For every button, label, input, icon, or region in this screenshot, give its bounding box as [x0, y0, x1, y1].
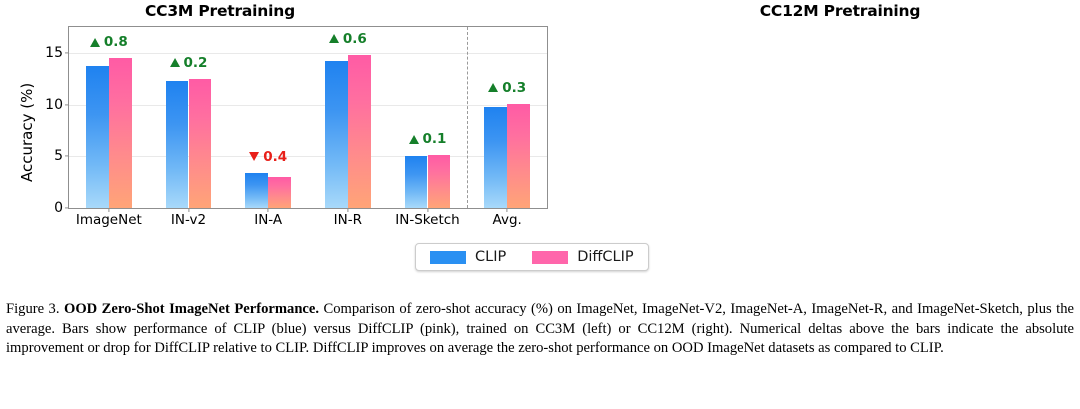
legend-label-diffclip: DiffCLIP [577, 249, 633, 265]
gridline [69, 156, 547, 157]
chart-title-cc3m: CC3M Pretraining [0, 2, 498, 20]
delta-annotation: 0.6 [329, 31, 367, 47]
triangle-up-icon [170, 58, 180, 67]
delta-annotation: 0.3 [488, 80, 526, 96]
y-tick-mark [65, 104, 69, 105]
bar-clip [484, 107, 507, 208]
x-tick-label-in-v2: IN-v2 [171, 212, 206, 228]
triangle-up-icon [90, 38, 100, 47]
y-tick-label: 15 [45, 45, 63, 61]
delta-value: 0.2 [184, 55, 208, 71]
chart-panel-cc3m: CC3M Pretraining Accuracy (%) 051015Imag… [0, 0, 556, 230]
chart-panel-cc12m: CC12M Pretraining 01020304050ImageNet2.0… [556, 0, 1080, 230]
delta-annotation: 0.2 [170, 55, 208, 71]
group-separator-line [467, 27, 468, 208]
legend-entry-diffclip: DiffCLIP [532, 249, 633, 265]
chart-legend: CLIP DiffCLIP [415, 243, 649, 271]
y-axis-label-cc3m: Accuracy (%) [18, 83, 36, 182]
delta-annotation: 0.8 [90, 34, 128, 50]
triangle-up-icon [329, 34, 339, 43]
triangle-up-icon [488, 83, 498, 92]
y-tick-mark [65, 156, 69, 157]
y-tick-mark [65, 207, 69, 208]
gridline [69, 105, 547, 106]
delta-value: 0.8 [104, 34, 128, 50]
legend-entry-clip: CLIP [430, 249, 506, 265]
bar-clip [245, 173, 268, 208]
gridline [69, 53, 547, 54]
legend-swatch-diffclip [532, 251, 568, 264]
caption-bold-title: OOD Zero-Shot ImageNet Performance. [64, 301, 319, 317]
bar-diffclip [428, 155, 451, 208]
figure-container: CC3M Pretraining Accuracy (%) 051015Imag… [0, 0, 1080, 292]
plot-area-cc3m: 051015ImageNet0.8IN-v20.2IN-A0.4IN-R0.6I… [68, 26, 548, 209]
caption-prefix: Figure 3. [6, 301, 60, 317]
bar-clip [325, 61, 348, 208]
figure-caption: Figure 3. OOD Zero-Shot ImageNet Perform… [6, 300, 1074, 359]
delta-value: 0.6 [343, 31, 367, 47]
delta-value: 0.1 [423, 131, 447, 147]
y-tick-label: 10 [45, 97, 63, 113]
triangle-down-icon [249, 152, 259, 161]
y-tick-label: 0 [54, 200, 63, 216]
bar-clip [166, 81, 189, 208]
legend-swatch-clip [430, 251, 466, 264]
chart-title-cc12m: CC12M Pretraining [578, 2, 1080, 20]
x-tick-label-imagenet: ImageNet [76, 212, 142, 228]
delta-annotation: 0.1 [409, 131, 447, 147]
bar-diffclip [268, 177, 291, 208]
bar-diffclip [109, 58, 132, 208]
y-tick-label: 5 [54, 148, 63, 164]
delta-annotation: 0.4 [249, 149, 287, 165]
legend-label-clip: CLIP [475, 249, 506, 265]
x-tick-label-in-sketch: IN-Sketch [395, 212, 459, 228]
delta-value: 0.4 [263, 149, 287, 165]
x-tick-label-in-a: IN-A [254, 212, 282, 228]
x-tick-label-in-r: IN-R [334, 212, 362, 228]
bar-diffclip [189, 79, 212, 208]
y-tick-mark [65, 52, 69, 53]
bar-clip [405, 156, 428, 208]
triangle-up-icon [409, 135, 419, 144]
bar-clip [86, 66, 109, 208]
x-tick-label-avg: Avg. [493, 212, 522, 228]
bar-diffclip [348, 55, 371, 208]
delta-value: 0.3 [502, 80, 526, 96]
bar-diffclip [507, 104, 530, 208]
